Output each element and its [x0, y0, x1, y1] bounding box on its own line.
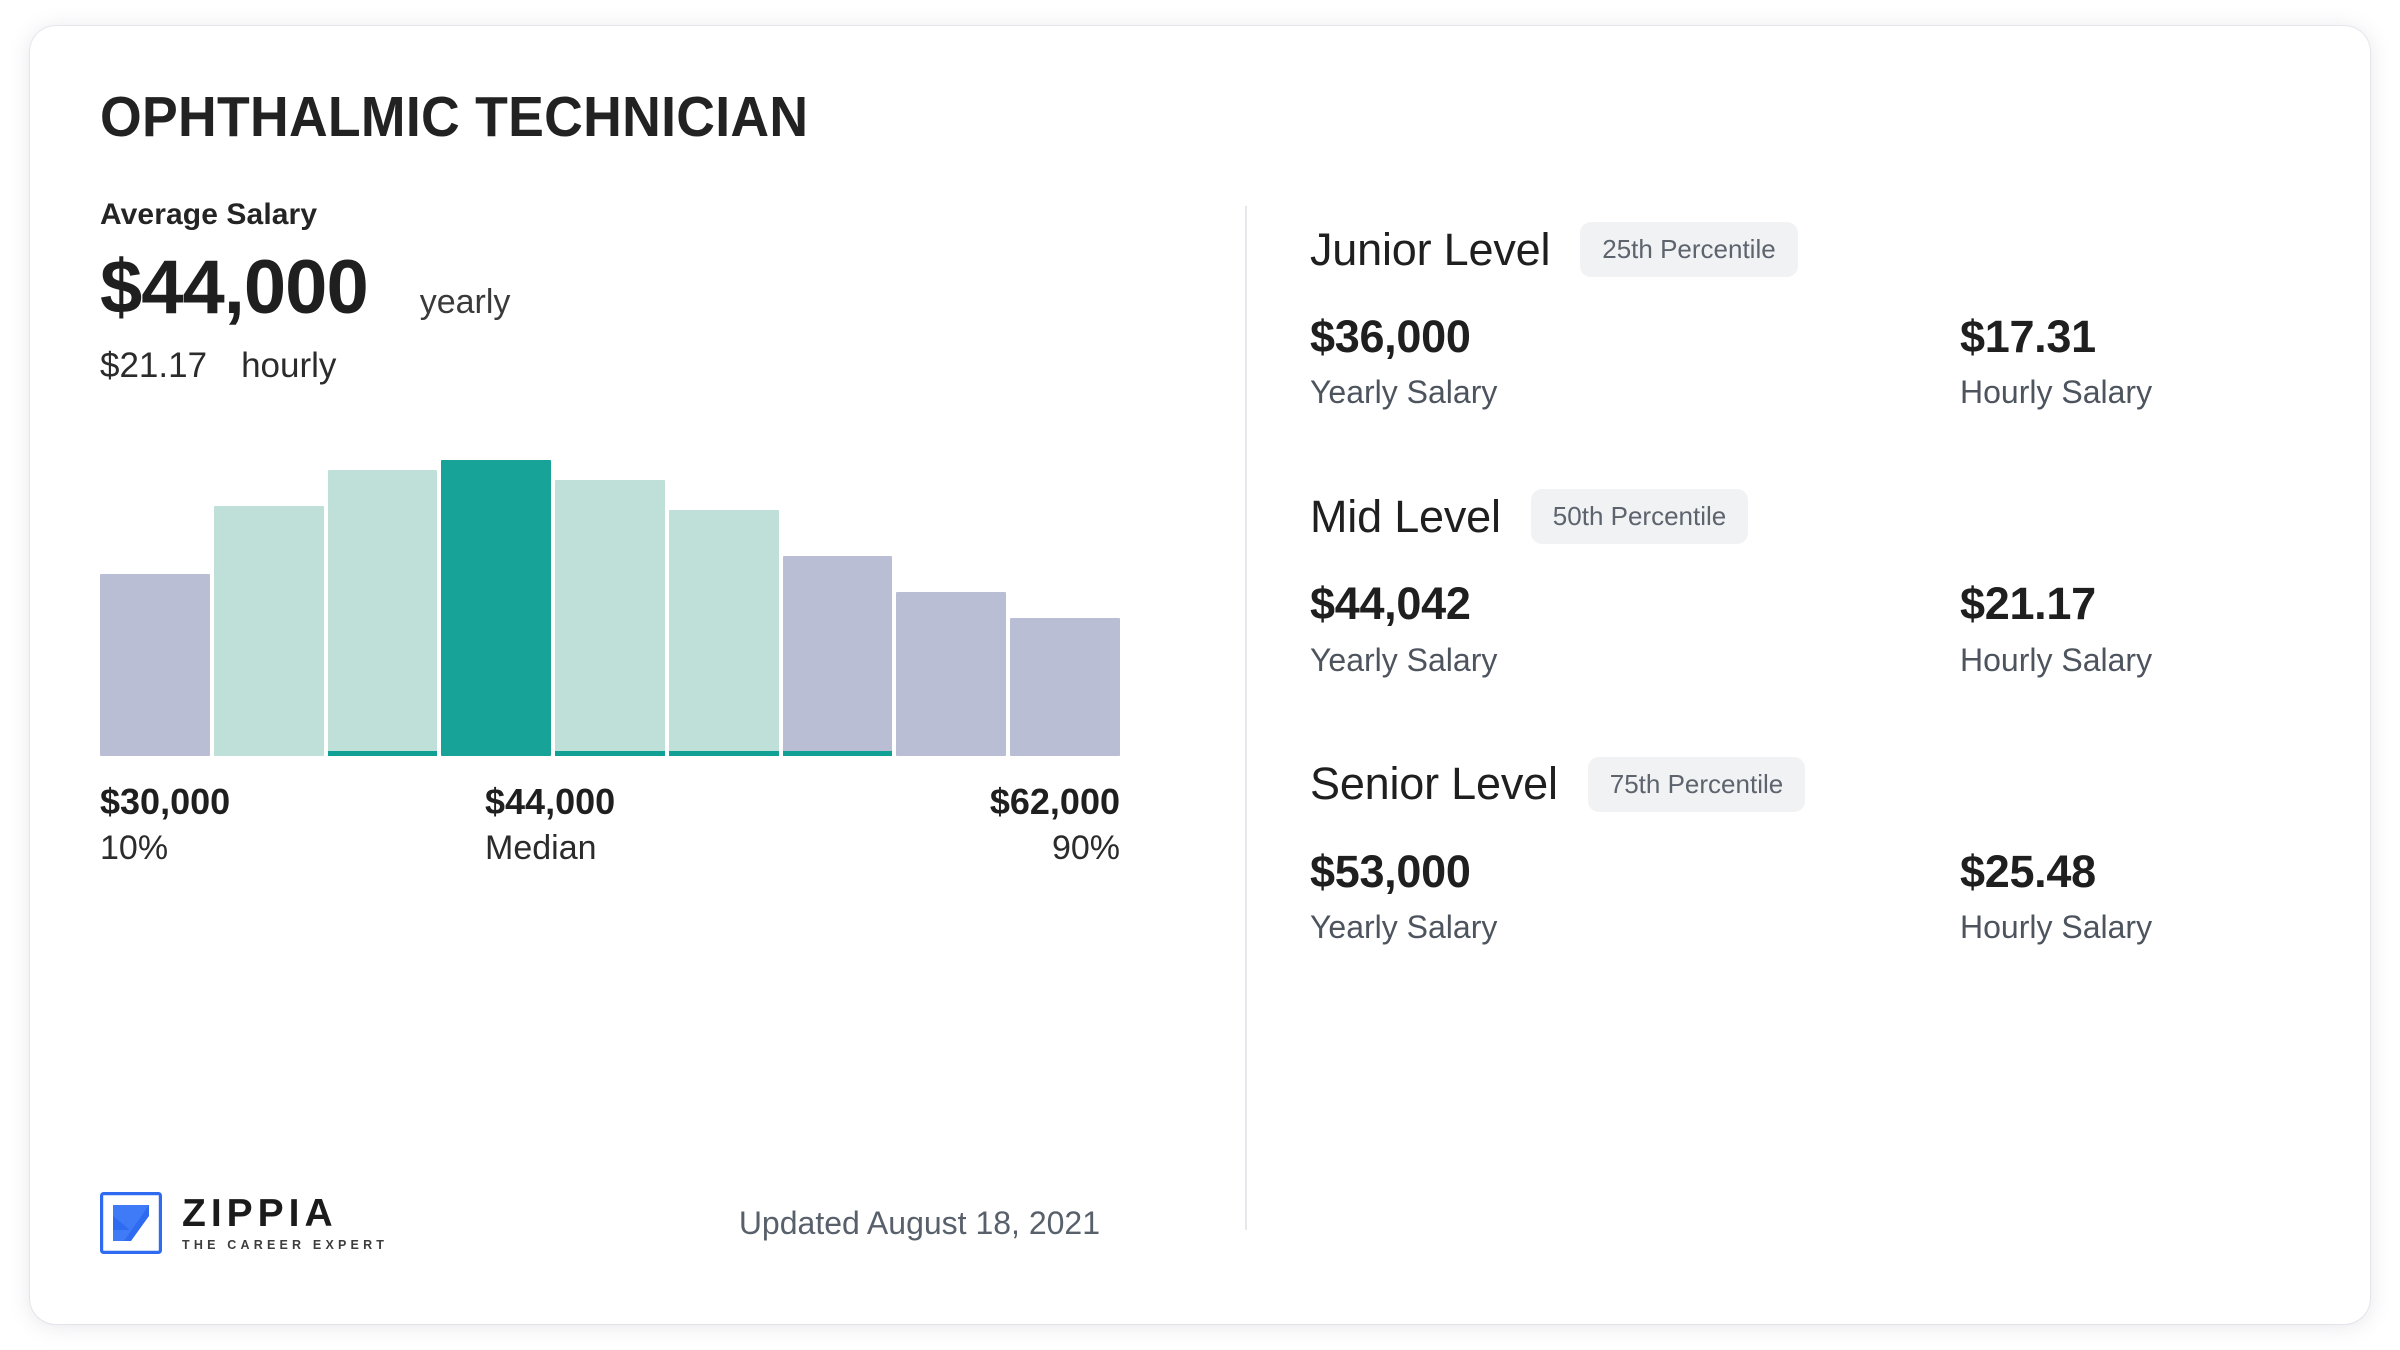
- level-header-junior: Junior Level 25th Percentile: [1310, 222, 2300, 277]
- stat-yearly-value-mid: $44,042: [1310, 580, 1960, 627]
- stat-yearly-mid: $44,042 Yearly Salary: [1310, 580, 1960, 678]
- average-yearly-period: yearly: [420, 283, 511, 322]
- zippia-z-icon: [100, 1192, 162, 1254]
- stat-hourly-value-mid: $21.17: [1960, 580, 2300, 627]
- stat-yearly-value-junior: $36,000: [1310, 313, 1960, 360]
- salary-card: OPHTHALMIC TECHNICIAN Average Salary $44…: [30, 26, 2370, 1324]
- chart-bar-8: [896, 592, 1006, 756]
- stat-hourly-value-junior: $17.31: [1960, 313, 2300, 360]
- level-block-mid: Mid Level 50th Percentile $44,042 Yearly…: [1310, 489, 2300, 678]
- chart-bar-2: [214, 506, 324, 756]
- level-header-senior: Senior Level 75th Percentile: [1310, 757, 2300, 812]
- level-header-mid: Mid Level 50th Percentile: [1310, 489, 2300, 544]
- salary-distribution-chart: $30,000 10% $44,000 Median $62,000 90%: [100, 426, 1120, 892]
- stat-yearly-label-mid: Yearly Salary: [1310, 642, 1960, 679]
- stat-hourly-label-mid: Hourly Salary: [1960, 642, 2300, 679]
- level-stats-senior: $53,000 Yearly Salary $25.48 Hourly Sala…: [1310, 848, 2300, 946]
- status-badge-junior: 25th Percentile: [1580, 222, 1797, 277]
- axis-label-low: $30,000 10%: [100, 782, 230, 868]
- chart-bar-4: [441, 460, 551, 756]
- stat-yearly-value-senior: $53,000: [1310, 848, 1960, 895]
- average-salary-label: Average Salary: [100, 198, 1215, 232]
- axis-label-high: $62,000 90%: [990, 782, 1120, 868]
- axis-low-value: $30,000: [100, 782, 230, 822]
- axis-high-value: $62,000: [990, 782, 1120, 822]
- stat-yearly-label-senior: Yearly Salary: [1310, 909, 1960, 946]
- level-name-junior: Junior Level: [1310, 224, 1550, 276]
- zippia-wordmark: ZIPPIA: [182, 1194, 388, 1233]
- level-name-mid: Mid Level: [1310, 491, 1501, 543]
- infographic-page: OPHTHALMIC TECHNICIAN Average Salary $44…: [0, 0, 2400, 1350]
- axis-low-sub: 10%: [100, 830, 230, 867]
- zippia-logo-text: ZIPPIA THE CAREER EXPERT: [182, 1194, 388, 1252]
- card-footer: ZIPPIA THE CAREER EXPERT Updated August …: [100, 1192, 1100, 1254]
- status-badge-senior: 75th Percentile: [1588, 757, 1805, 812]
- stat-yearly-label-junior: Yearly Salary: [1310, 374, 1960, 411]
- average-yearly-row: $44,000 yearly: [100, 250, 1215, 326]
- chart-bar-3: [328, 470, 438, 756]
- level-block-senior: Senior Level 75th Percentile $53,000 Yea…: [1310, 757, 2300, 946]
- stat-hourly-label-senior: Hourly Salary: [1960, 909, 2300, 946]
- stat-hourly-value-senior: $25.48: [1960, 848, 2300, 895]
- stat-hourly-label-junior: Hourly Salary: [1960, 374, 2300, 411]
- average-yearly-amount: $44,000: [100, 250, 368, 326]
- updated-date: Updated August 18, 2021: [739, 1205, 1100, 1242]
- chart-bar-1: [100, 574, 210, 756]
- page-title: OPHTHALMIC TECHNICIAN: [100, 88, 1148, 148]
- axis-median-value: $44,000: [485, 782, 615, 822]
- level-name-senior: Senior Level: [1310, 758, 1558, 810]
- chart-bar-7: [783, 556, 893, 756]
- chart-axis-labels: $30,000 10% $44,000 Median $62,000 90%: [100, 782, 1120, 892]
- stat-yearly-junior: $36,000 Yearly Salary: [1310, 313, 1960, 411]
- stat-yearly-senior: $53,000 Yearly Salary: [1310, 848, 1960, 946]
- chart-bar-5: [555, 480, 665, 756]
- level-stats-junior: $36,000 Yearly Salary $17.31 Hourly Sala…: [1310, 313, 2300, 411]
- status-badge-mid: 50th Percentile: [1531, 489, 1748, 544]
- average-hourly-period: hourly: [241, 346, 336, 386]
- zippia-logo[interactable]: ZIPPIA THE CAREER EXPERT: [100, 1192, 388, 1254]
- average-hourly-amount: $21.17: [100, 346, 207, 386]
- axis-median-sub: Median: [485, 830, 615, 867]
- level-block-junior: Junior Level 25th Percentile $36,000 Yea…: [1310, 222, 2300, 411]
- average-hourly-row: $21.17 hourly: [100, 346, 1215, 386]
- chart-bars: [100, 426, 1120, 756]
- axis-high-sub: 90%: [990, 830, 1120, 867]
- zippia-tagline: THE CAREER EXPERT: [182, 1239, 388, 1252]
- level-stats-mid: $44,042 Yearly Salary $21.17 Hourly Sala…: [1310, 580, 2300, 678]
- stat-hourly-junior: $17.31 Hourly Salary: [1960, 313, 2300, 411]
- axis-label-median: $44,000 Median: [485, 782, 615, 868]
- stat-hourly-senior: $25.48 Hourly Salary: [1960, 848, 2300, 946]
- chart-bar-6: [669, 510, 779, 756]
- right-panel: Junior Level 25th Percentile $36,000 Yea…: [1215, 26, 2370, 1324]
- stat-hourly-mid: $21.17 Hourly Salary: [1960, 580, 2300, 678]
- chart-bar-9: [1010, 618, 1120, 756]
- left-panel: OPHTHALMIC TECHNICIAN Average Salary $44…: [30, 26, 1215, 1324]
